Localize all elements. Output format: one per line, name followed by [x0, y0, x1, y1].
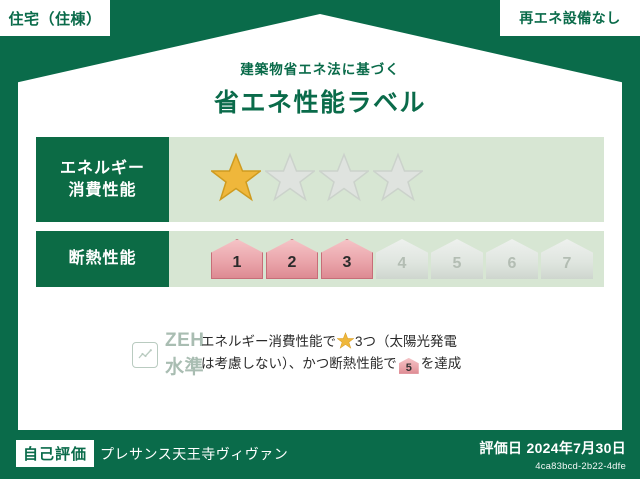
- evaluation-date: 評価日 2024年7月30日: [479, 438, 626, 458]
- insulation-level-chip: 2: [266, 239, 318, 279]
- energy-performance-row: エネルギー 消費性能: [36, 137, 604, 222]
- footer-left: 自己評価 プレサンス天王寺ヴィヴァン: [16, 440, 288, 467]
- self-evaluation-badge: 自己評価: [16, 440, 94, 467]
- property-name: プレサンス天王寺ヴィヴァン: [100, 444, 288, 464]
- page-title: 省エネ性能ラベル: [0, 83, 640, 119]
- building-type-tag: 住宅（住棟）: [0, 0, 110, 36]
- footer-bar: 自己評価 プレサンス天王寺ヴィヴァン 評価日 2024年7月30日 4ca83b…: [0, 434, 640, 479]
- energy-label-card: 住宅（住棟） 再エネ設備なし 建築物省エネ法に基づく 省エネ性能ラベル エネルギ…: [0, 0, 640, 479]
- star-rating: [211, 152, 427, 207]
- star-empty-icon: [319, 152, 369, 202]
- insulation-level-chip: 3: [321, 239, 373, 279]
- zeh-desc-l1-pre: エネルギー消費性能で: [201, 334, 336, 349]
- evaluation-id: 4ca83bcd-2b22-4dfe: [479, 461, 626, 472]
- star-empty-icon: [265, 152, 315, 202]
- footer-right: 評価日 2024年7月30日 4ca83bcd-2b22-4dfe: [479, 438, 626, 472]
- building-type-label: 住宅（住棟）: [8, 8, 101, 29]
- zeh-badge: ZEH水準: [36, 330, 201, 379]
- insulation-performance-row: 断熱性能 1234567: [36, 231, 604, 287]
- insulation-performance-label: 断熱性能: [36, 231, 169, 287]
- zeh-description: エネルギー消費性能で3つ（太陽光発電 は考慮しない）、かつ断熱性能で5を達成: [201, 330, 461, 375]
- title-subtitle: 建築物省エネ法に基づく: [0, 58, 640, 78]
- energy-label-line2: 消費性能: [68, 180, 136, 202]
- zeh-description-line2: は考慮しない）、かつ断熱性能で5を達成: [201, 353, 461, 375]
- zeh-desc-l2-post: を達成: [421, 356, 462, 371]
- insulation-level-chip: 7: [541, 239, 593, 279]
- energy-rating-panel: [169, 137, 604, 222]
- title-block: 建築物省エネ法に基づく 省エネ性能ラベル: [0, 58, 640, 119]
- insulation-level-chip: 5: [431, 239, 483, 279]
- zeh-label: ZEH水準: [165, 330, 205, 379]
- inline-level-badge: 5: [399, 358, 419, 374]
- insulation-level-chip: 6: [486, 239, 538, 279]
- star-empty-icon: [373, 152, 423, 202]
- zeh-desc-l1-post: 3つ（太陽光発電: [355, 334, 457, 349]
- insulation-level-chip: 4: [376, 239, 428, 279]
- renewable-equipment-tag: 再エネ設備なし: [500, 0, 640, 36]
- insulation-level-chips: 1234567: [211, 239, 596, 279]
- zeh-chart-icon: [132, 342, 158, 368]
- renewable-equipment-label: 再エネ設備なし: [519, 8, 621, 28]
- zeh-desc-l2-pre: は考慮しない）、かつ断熱性能で: [201, 356, 397, 371]
- insulation-rating-panel: 1234567: [169, 231, 604, 287]
- insulation-label-text: 断熱性能: [68, 248, 136, 270]
- zeh-description-line1: エネルギー消費性能で3つ（太陽光発電: [201, 331, 461, 353]
- zeh-section: ZEH水準 エネルギー消費性能で3つ（太陽光発電 は考慮しない）、かつ断熱性能で…: [36, 330, 604, 379]
- inline-star-icon: [337, 332, 354, 349]
- star-filled-icon: [211, 152, 261, 202]
- metrics-section: エネルギー 消費性能 断熱性能 1234567: [36, 137, 604, 296]
- energy-label-line1: エネルギー: [60, 158, 145, 180]
- energy-performance-label: エネルギー 消費性能: [36, 137, 169, 222]
- insulation-level-chip: 1: [211, 239, 263, 279]
